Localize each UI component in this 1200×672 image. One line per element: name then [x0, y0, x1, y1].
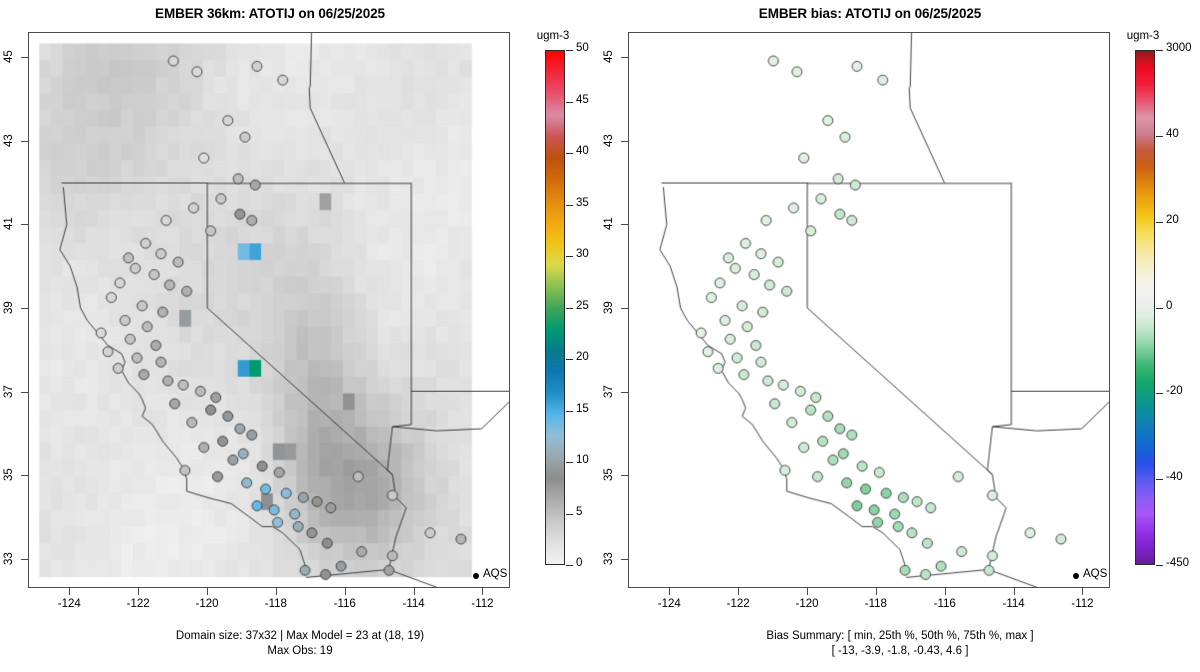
bias-panel-title: EMBER bias: ATOTIJ on 06/25/2025	[600, 6, 1140, 21]
colorbar-tick-label: 0	[1166, 300, 1172, 312]
bias-map-canvas[interactable]	[629, 33, 1109, 587]
x-tickmark	[807, 588, 808, 595]
colorbar-tickmark	[1156, 50, 1163, 51]
aqs-legend-label: AQS	[483, 568, 507, 580]
colorbar-tick-label: 5	[576, 506, 582, 518]
y-tickmark	[621, 57, 628, 58]
colorbar-tickmark	[566, 50, 573, 51]
x-tickmark	[482, 588, 483, 595]
y-tick-label: 41	[603, 213, 617, 235]
figure-root: EMBER 36km: ATOTIJ on 06/25/2025 3335373…	[0, 0, 1200, 672]
bias-caption-line1: Bias Summary: [ min, 25th %, 50th %, 75t…	[600, 629, 1200, 644]
x-tickmark	[738, 588, 739, 595]
x-tick-label: -116	[325, 598, 365, 610]
colorbar-tick-label: 40	[1166, 128, 1179, 140]
colorbar-tickmark	[1156, 308, 1163, 309]
colorbar-tickmark	[1156, 479, 1163, 480]
y-tickmark	[21, 308, 28, 309]
y-tick-label: 37	[3, 381, 17, 403]
colorbar-gradient	[545, 50, 565, 565]
model-panel-title: EMBER 36km: ATOTIJ on 06/25/2025	[0, 6, 540, 21]
y-tick-label: 43	[603, 130, 617, 152]
colorbar-tick-label: 10	[576, 454, 589, 466]
colorbar-tickmark	[566, 153, 573, 154]
colorbar-tickmark	[566, 256, 573, 257]
y-tickmark	[621, 308, 628, 309]
colorbar-tickmark	[1156, 393, 1163, 394]
y-tick-label: 35	[603, 464, 617, 486]
y-tickmark	[21, 141, 28, 142]
y-tick-label: 39	[603, 297, 617, 319]
y-tickmark	[621, 141, 628, 142]
colorbar-tickmark	[1156, 565, 1163, 566]
x-tickmark	[69, 588, 70, 595]
x-tickmark	[876, 588, 877, 595]
colorbar-tickmark	[1156, 222, 1163, 223]
x-tick-label: -114	[394, 598, 434, 610]
colorbar-tick-label: 50	[576, 42, 589, 54]
y-tick-label: 45	[603, 46, 617, 68]
colorbar-unit-label: ugm-3	[1113, 30, 1173, 42]
y-tickmark	[621, 392, 628, 393]
x-tick-label: -116	[925, 598, 965, 610]
colorbar-tick-label: -20	[1166, 385, 1183, 397]
y-tickmark	[21, 475, 28, 476]
colorbar-tickmark	[566, 462, 573, 463]
x-tickmark	[1014, 588, 1015, 595]
colorbar-tick-label: 20	[576, 351, 589, 363]
aqs-legend-dot-icon-bias	[1073, 573, 1079, 579]
x-tickmark	[1082, 588, 1083, 595]
y-tickmark	[21, 224, 28, 225]
colorbar-tick-label: 3000	[1166, 42, 1192, 54]
model-caption-line2: Max Obs: 19	[0, 644, 600, 659]
x-tick-label: -124	[649, 598, 689, 610]
colorbar-tick-label: -450	[1166, 557, 1189, 569]
bias-caption-line2: [ -13, -3.9, -1.8, -0.43, 4.6 ]	[600, 644, 1200, 659]
x-tick-label: -122	[118, 598, 158, 610]
colorbar-tickmark	[566, 359, 573, 360]
colorbar-tickmark	[566, 205, 573, 206]
x-tick-label: -120	[787, 598, 827, 610]
y-tickmark	[21, 559, 28, 560]
bias-map-frame	[628, 32, 1110, 588]
y-tick-label: 45	[3, 46, 17, 68]
x-tick-label: -122	[718, 598, 758, 610]
colorbar-tickmark	[566, 411, 573, 412]
x-tickmark	[207, 588, 208, 595]
colorbar-tickmark	[566, 565, 573, 566]
model-map-frame	[28, 32, 510, 588]
aqs-legend-label-bias: AQS	[1083, 568, 1107, 580]
y-tickmark	[621, 475, 628, 476]
y-tick-label: 33	[3, 548, 17, 570]
x-tick-label: -114	[994, 598, 1034, 610]
x-tickmark	[945, 588, 946, 595]
x-tickmark	[345, 588, 346, 595]
colorbar-tick-label: 25	[576, 300, 589, 312]
colorbar-tick-label: 15	[576, 403, 589, 415]
colorbar-tick-label: 20	[1166, 214, 1179, 226]
model-panel: EMBER 36km: ATOTIJ on 06/25/2025 3335373…	[0, 0, 600, 672]
x-tick-label: -112	[1062, 598, 1102, 610]
colorbar-tick-label: 30	[576, 248, 589, 260]
aqs-legend-dot-icon	[473, 573, 479, 579]
x-tickmark	[138, 588, 139, 595]
y-tickmark	[21, 392, 28, 393]
colorbar-unit-label: ugm-3	[523, 30, 583, 42]
colorbar-tickmark	[1156, 136, 1163, 137]
colorbar-tick-label: 45	[576, 94, 589, 106]
y-tick-label: 37	[603, 381, 617, 403]
model-map-canvas[interactable]	[29, 33, 509, 587]
colorbar-tickmark	[566, 308, 573, 309]
x-tick-label: -120	[187, 598, 227, 610]
y-tickmark	[621, 224, 628, 225]
x-tick-label: -112	[462, 598, 502, 610]
colorbar-tick-label: 0	[576, 557, 582, 569]
y-tick-label: 35	[3, 464, 17, 486]
x-tickmark	[669, 588, 670, 595]
x-tickmark	[276, 588, 277, 595]
y-tickmark	[21, 57, 28, 58]
colorbar-tick-label: -40	[1166, 471, 1183, 483]
x-tickmark	[414, 588, 415, 595]
y-tick-label: 43	[3, 130, 17, 152]
colorbar-tickmark	[566, 514, 573, 515]
colorbar-tickmark	[566, 102, 573, 103]
x-tick-label: -124	[49, 598, 89, 610]
x-tick-label: -118	[256, 598, 296, 610]
x-tick-label: -118	[856, 598, 896, 610]
y-tick-label: 39	[3, 297, 17, 319]
bias-panel: EMBER bias: ATOTIJ on 06/25/2025 3335373…	[600, 0, 1200, 672]
colorbar-tick-label: 40	[576, 145, 589, 157]
colorbar-gradient	[1135, 50, 1155, 565]
model-caption-line1: Domain size: 37x32 | Max Model = 23 at (…	[0, 629, 600, 644]
colorbar-tick-label: 35	[576, 197, 589, 209]
y-tick-label: 41	[3, 213, 17, 235]
y-tickmark	[621, 559, 628, 560]
y-tick-label: 33	[603, 548, 617, 570]
